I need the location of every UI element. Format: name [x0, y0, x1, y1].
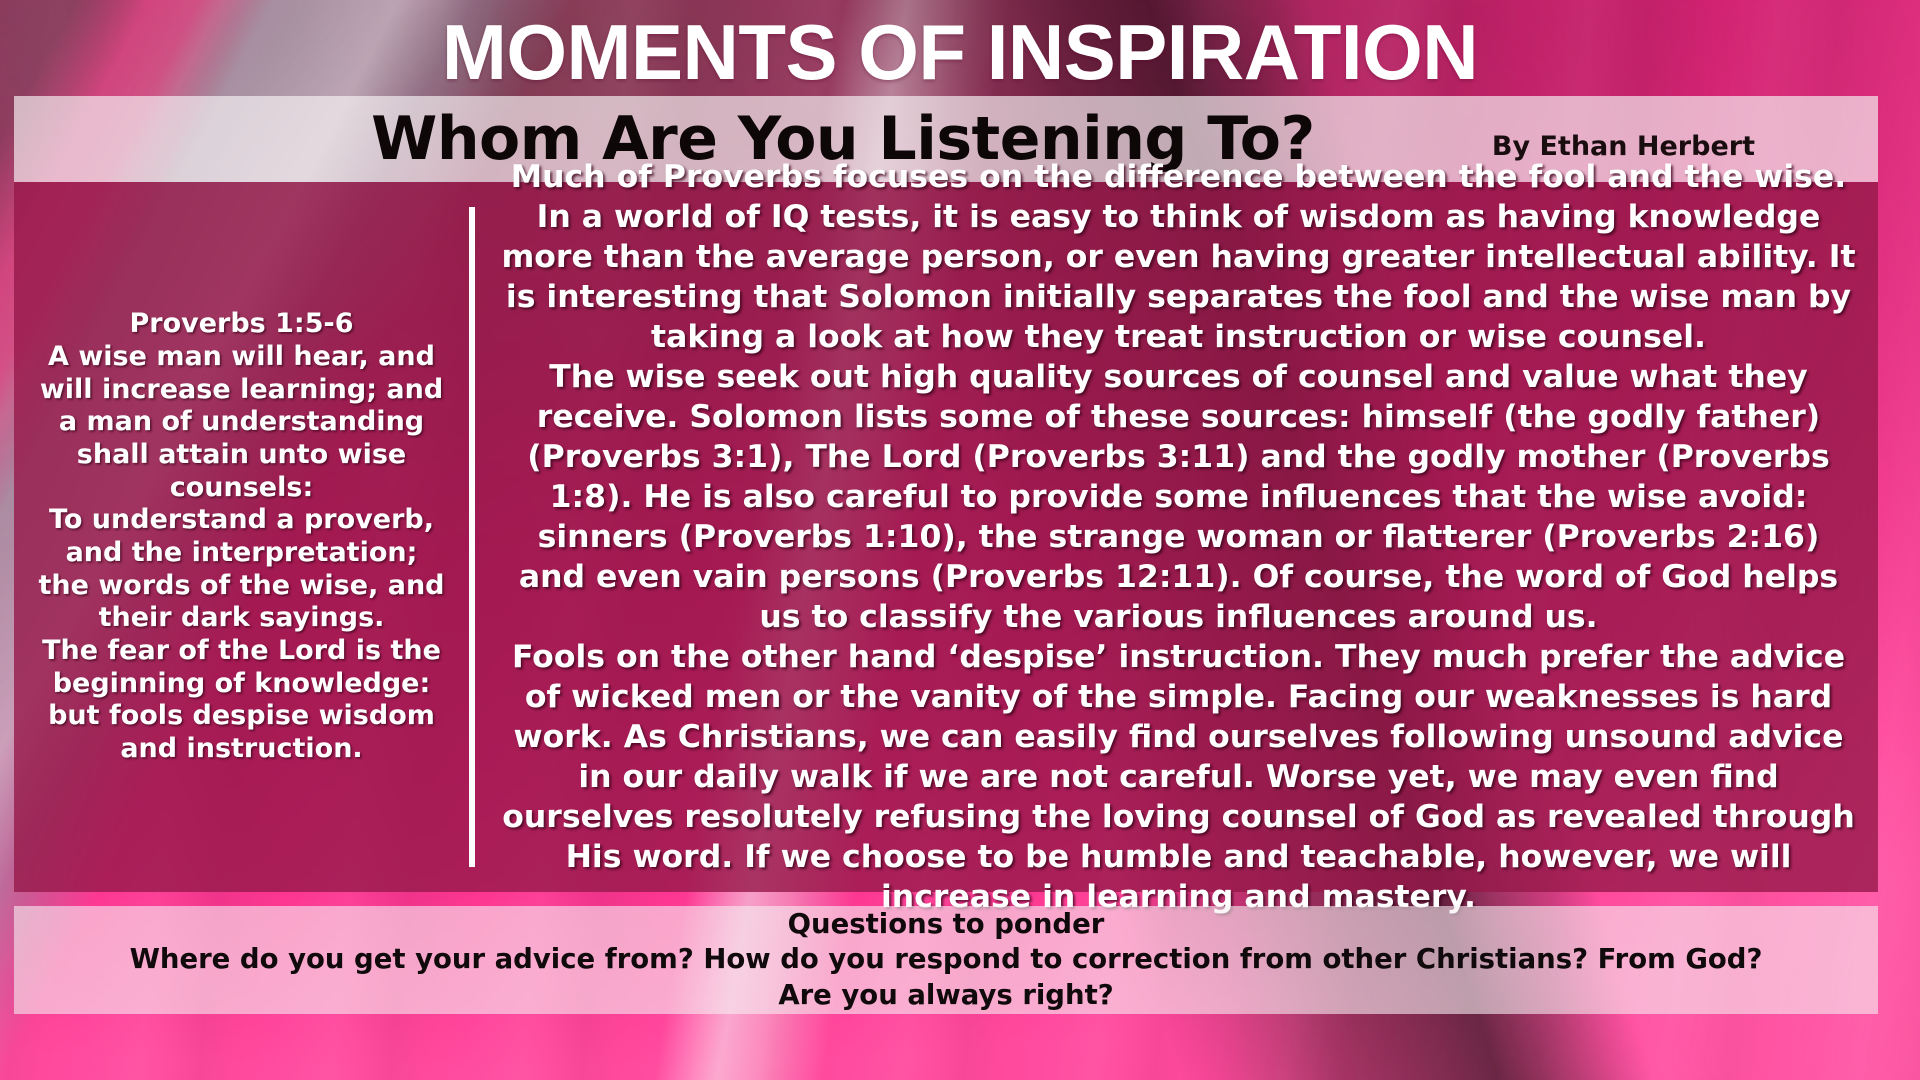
scripture-passage: Proverbs 1:5-6 A wise man will hear, and…	[38, 308, 445, 765]
page-title: MOMENTS OF INSPIRATION	[442, 13, 1478, 91]
article-body-text: Much of Proverbs focuses on the differen…	[501, 157, 1856, 917]
inspiration-slide: MOMENTS OF INSPIRATION Whom Are You List…	[0, 0, 1920, 1080]
scripture-column: Proverbs 1:5-6 A wise man will hear, and…	[14, 182, 469, 892]
article-body-column: Much of Proverbs focuses on the differen…	[475, 182, 1878, 892]
content-panel: Proverbs 1:5-6 A wise man will hear, and…	[14, 182, 1878, 892]
author-byline: By Ethan Herbert	[1492, 119, 1850, 160]
questions-band: Questions to ponder Where do you get you…	[14, 906, 1878, 1014]
questions-to-ponder-text: Questions to ponder Where do you get you…	[14, 907, 1878, 1013]
title-bar: MOMENTS OF INSPIRATION	[0, 4, 1920, 100]
